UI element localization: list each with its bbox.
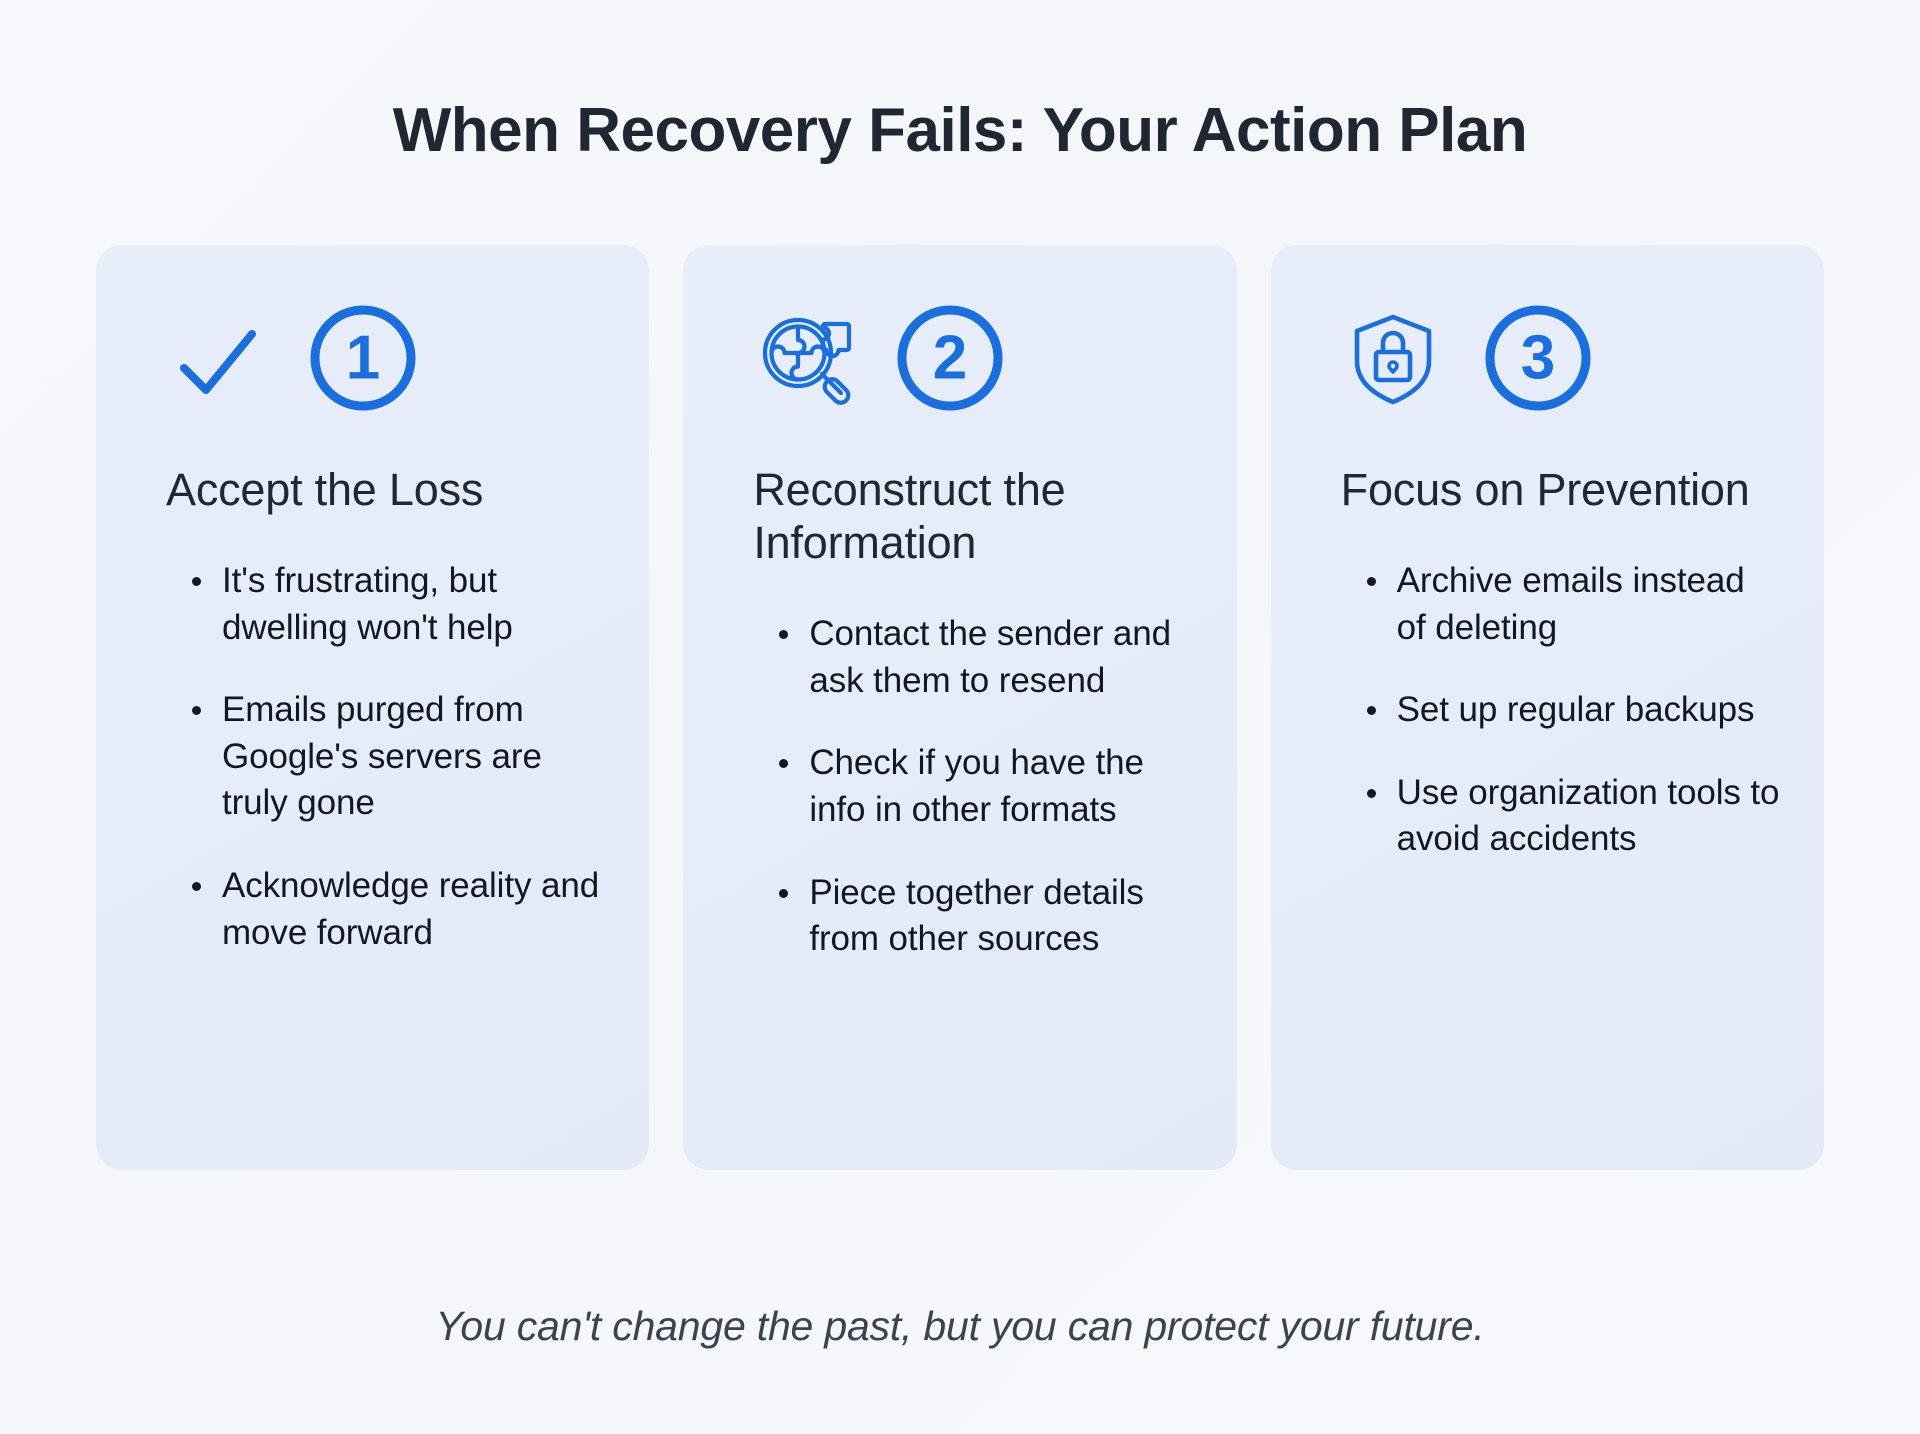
list-item: Piece together details from other source…	[779, 870, 1192, 963]
step-number-badge-2: 2	[893, 301, 1007, 420]
list-item: Use organization tools to avoid accident…	[1367, 770, 1780, 863]
step-number-1: 1	[346, 323, 380, 392]
card-3-title: Focus on Prevention	[1315, 463, 1780, 516]
list-item: Contact the sender and ask them to resen…	[779, 611, 1192, 704]
list-item: It's frustrating, but dwelling won't hel…	[192, 558, 605, 651]
step-number-3: 3	[1520, 323, 1554, 392]
card-2-bullet-list: Contact the sender and ask them to resen…	[727, 611, 1192, 962]
list-item: Set up regular backups	[1367, 687, 1780, 734]
card-step-1: 1 Accept the Loss It's frustrating, but …	[96, 245, 649, 1170]
list-item: Archive emails instead of deleting	[1367, 558, 1780, 651]
page-title: When Recovery Fails: Your Action Plan	[0, 0, 1920, 165]
puzzle-magnifier-icon	[753, 306, 857, 415]
list-item: Emails purged from Google's servers are …	[192, 687, 605, 827]
card-2-title: Reconstruct the Information	[727, 463, 1192, 569]
shield-lock-icon	[1341, 306, 1445, 415]
step-number-2: 2	[933, 323, 967, 392]
check-mark-icon	[166, 306, 270, 415]
card-3-bullet-list: Archive emails instead of deleting Set u…	[1315, 558, 1780, 863]
infographic-page: When Recovery Fails: Your Action Plan 1 …	[0, 0, 1920, 1434]
list-item: Check if you have the info in other form…	[779, 740, 1192, 833]
card-step-2: 2 Reconstruct the Information Contact th…	[683, 245, 1236, 1170]
footer-quote: You can't change the past, but you can p…	[0, 1303, 1920, 1350]
step-number-badge-1: 1	[306, 301, 420, 420]
card-1-header: 1	[140, 301, 605, 419]
card-2-header: 2	[727, 301, 1192, 419]
card-1-title: Accept the Loss	[140, 463, 605, 516]
cards-container: 1 Accept the Loss It's frustrating, but …	[0, 245, 1920, 1170]
step-number-badge-3: 3	[1481, 301, 1595, 420]
card-3-header: 3	[1315, 301, 1780, 419]
card-1-bullet-list: It's frustrating, but dwelling won't hel…	[140, 558, 605, 956]
card-step-3: 3 Focus on Prevention Archive emails ins…	[1271, 245, 1824, 1170]
list-item: Acknowledge reality and move forward	[192, 863, 605, 956]
